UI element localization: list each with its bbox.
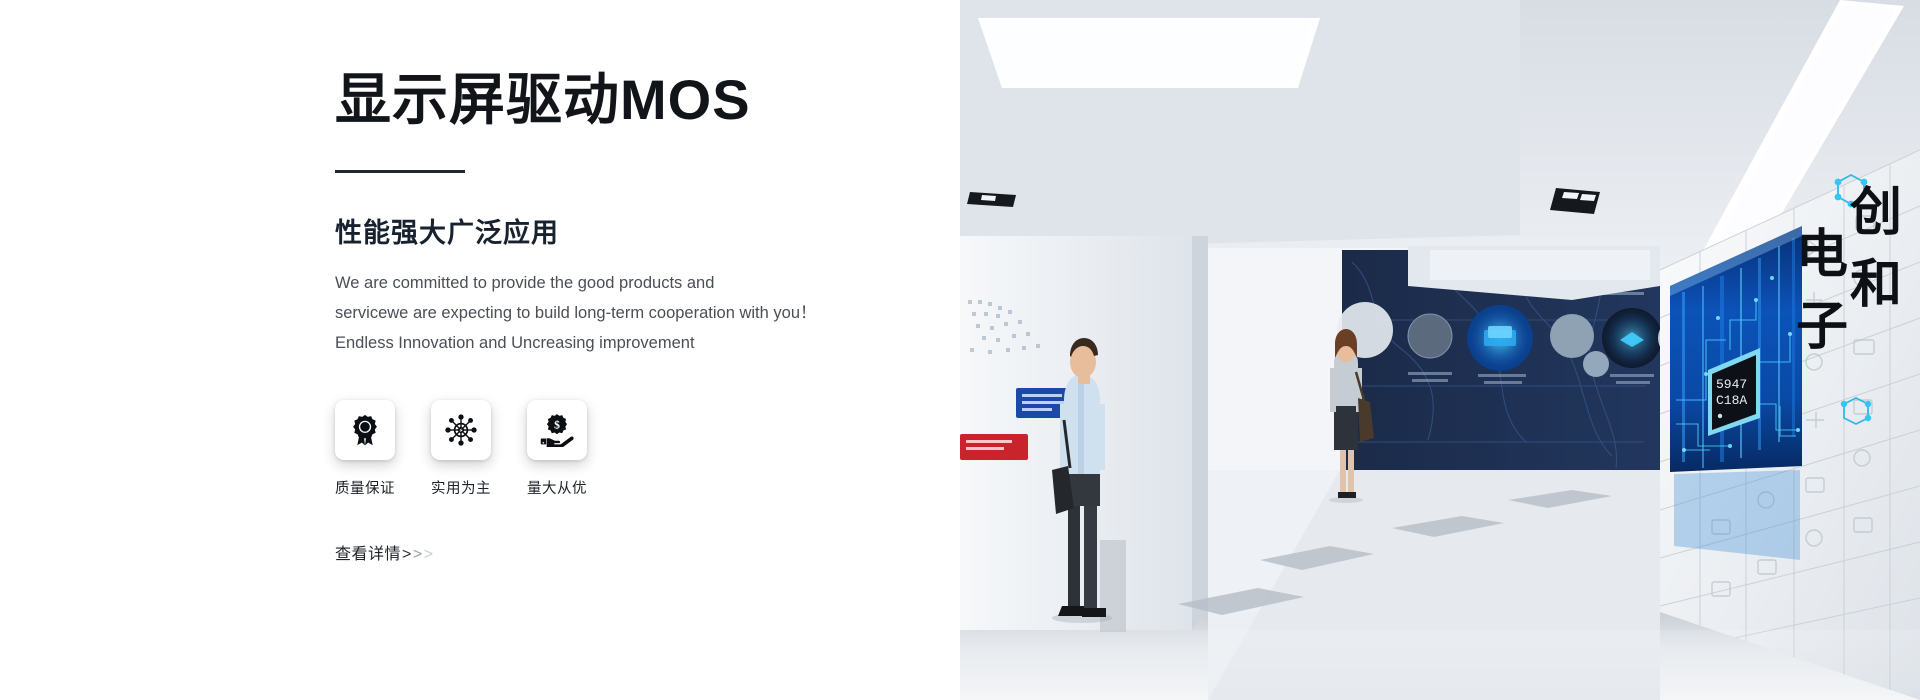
svg-text:$: $ (554, 418, 560, 431)
hero-banner: 显示屏驱动MOS 性能强大广泛应用 We are committed to pr… (0, 0, 1920, 700)
feature-icon-box (335, 400, 395, 460)
award-ribbon-icon (348, 413, 382, 447)
sign-char-he: 和 (1850, 256, 1902, 314)
page-title: 显示屏驱动MOS (335, 68, 935, 132)
chevron-1-icon: > (402, 546, 412, 564)
content-column: 显示屏驱动MOS 性能强大广泛应用 We are committed to pr… (335, 0, 935, 564)
view-details-link[interactable]: 查看详情 > > > (335, 540, 434, 564)
sign-char-dian: 电 (1796, 226, 1848, 284)
feature-icon-box: $ (527, 400, 587, 460)
hand-money-icon: $ (540, 413, 574, 447)
chip-label-line1: 5947 (1716, 377, 1747, 392)
title-divider (335, 170, 465, 173)
description-paragraph: We are committed to provide the good pro… (335, 268, 935, 358)
sign-char-chuang: 创 (1849, 184, 1902, 242)
feature-item-practical[interactable]: 实用为主 (431, 400, 503, 498)
subtitle: 性能强大广泛应用 (335, 217, 935, 249)
chevron-2-icon: > (413, 546, 423, 564)
feature-label: 质量保证 (335, 477, 407, 498)
sign-char-zi: 子 (1796, 298, 1848, 356)
view-details-label: 查看详情 (335, 540, 401, 564)
feature-label: 实用为主 (431, 477, 503, 498)
left-text-panel: 显示屏驱动MOS 性能强大广泛应用 We are committed to pr… (0, 0, 960, 700)
feature-icon-box (431, 400, 491, 460)
description-line-1: We are committed to provide the good pro… (335, 268, 935, 298)
description-line-3: Endless Innovation and Uncreasing improv… (335, 328, 935, 358)
chip-label-line2: C18A (1716, 393, 1747, 408)
feature-item-quality[interactable]: 质量保证 (335, 400, 407, 498)
showroom-illustration: 5947 C18A 创 (960, 0, 1920, 700)
chevron-3-icon: > (424, 546, 434, 564)
showroom-photo: 5947 C18A 创 (960, 0, 1920, 700)
feature-item-bulk-discount[interactable]: $ 量大从优 (527, 400, 599, 498)
feature-label: 量大从优 (527, 477, 599, 498)
feature-list: 质量保证 (335, 400, 935, 498)
network-hub-icon (444, 413, 478, 447)
description-line-2: servicewe are expecting to build long-te… (335, 298, 935, 328)
